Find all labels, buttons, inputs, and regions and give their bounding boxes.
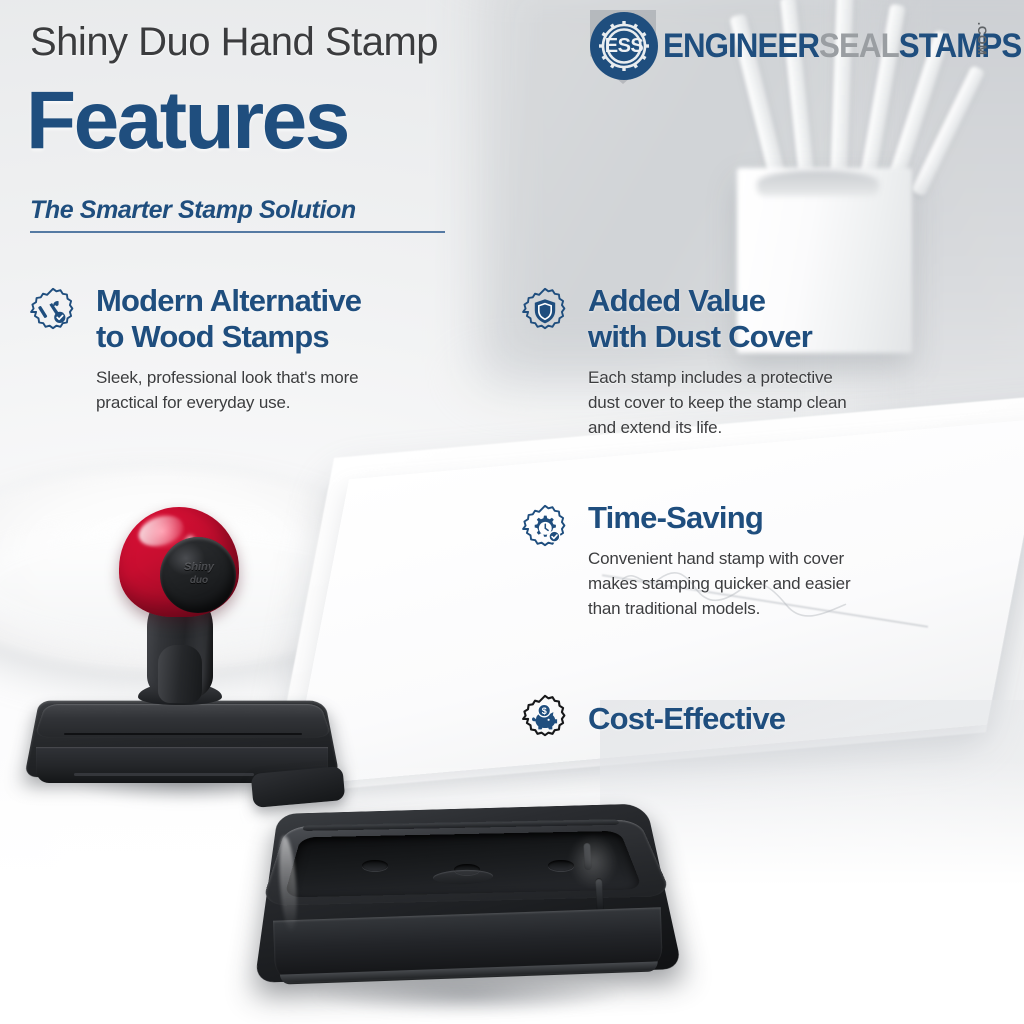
feature-desc-line3: than traditional models. xyxy=(588,596,990,621)
feature-desc-line2: practical for everyday use. xyxy=(96,390,498,415)
feature-description: Sleek, professional look that's more pra… xyxy=(96,365,498,415)
feature-title-line1: Cost-Effective xyxy=(588,701,785,736)
subtitle: The Smarter Stamp Solution xyxy=(30,195,450,225)
feature-cost-effective: $ Cost-Effective xyxy=(520,694,990,744)
tools-check-badge-icon xyxy=(28,287,78,337)
feature-added-value: Added Value with Dust Cover Each stamp i… xyxy=(520,283,990,440)
feature-title-line2: with Dust Cover xyxy=(588,319,990,355)
feature-body: Added Value with Dust Cover Each stamp i… xyxy=(588,283,990,440)
feature-title: Time-Saving xyxy=(588,500,990,536)
feature-description: Each stamp includes a protective dust co… xyxy=(588,365,990,440)
infographic-canvas: Shiny Duo Hand Stamp Features The Smarte… xyxy=(0,0,1024,1024)
feature-modern-alternative: Modern Alternative to Wood Stamps Sleek,… xyxy=(28,283,498,415)
feature-body: Time-Saving Convenient hand stamp with c… xyxy=(588,500,990,621)
feature-title: Modern Alternative to Wood Stamps xyxy=(96,283,498,355)
subtitle-underline xyxy=(30,231,445,233)
page-title: Features xyxy=(26,78,348,164)
logo-mark-text: ESS xyxy=(590,12,658,80)
brand-logo[interactable]: ESS ENGINEERSEALSTAMPS .COM xyxy=(585,8,1015,88)
feature-title: Added Value with Dust Cover xyxy=(588,283,990,355)
feature-title: Cost-Effective xyxy=(588,701,990,737)
feature-desc-line2: makes stamping quicker and easier xyxy=(588,571,990,596)
wordmark-seal: SEAL xyxy=(819,27,899,65)
feature-title-line1: Modern Alternative xyxy=(96,283,361,318)
feature-desc-line1: Each stamp includes a protective xyxy=(588,365,990,390)
hand-stamp-knob-emboss: Shiny duo xyxy=(176,557,222,591)
dust-cover-dimple-1 xyxy=(362,860,388,871)
feature-desc-line1: Sleek, professional look that's more xyxy=(96,365,498,390)
subtitle-block: The Smarter Stamp Solution xyxy=(30,195,450,233)
feature-body: Modern Alternative to Wood Stamps Sleek,… xyxy=(96,283,498,415)
knob-emboss-line2: duo xyxy=(190,574,208,587)
feature-desc-line1: Convenient hand stamp with cover xyxy=(588,546,990,571)
brand-wordmark: ENGINEERSEALSTAMPS xyxy=(663,26,1021,66)
feature-description: Convenient hand stamp with cover makes s… xyxy=(588,546,990,621)
product-name-kicker: Shiny Duo Hand Stamp xyxy=(30,18,438,66)
shield-badge-icon xyxy=(520,287,570,337)
feature-title-line1: Added Value xyxy=(588,283,765,318)
feature-title-line2: to Wood Stamps xyxy=(96,319,498,355)
gear-clock-check-badge-icon xyxy=(520,504,570,554)
feature-title-line1: Time-Saving xyxy=(588,500,763,535)
dust-cover-product-image xyxy=(258,782,678,1020)
feature-time-saving: Time-Saving Convenient hand stamp with c… xyxy=(520,500,990,621)
feature-desc-line2: dust cover to keep the stamp clean xyxy=(588,390,990,415)
hand-stamp-base-front-groove xyxy=(74,773,254,776)
feature-body: Cost-Effective xyxy=(588,701,990,737)
hand-stamp-base-seam xyxy=(64,733,302,735)
feature-desc-line3: and extend its life. xyxy=(588,415,990,440)
hand-stamp-product-image: Shiny duo xyxy=(30,495,340,815)
wordmark-tld: .COM xyxy=(975,22,989,55)
dust-cover-highlight-right xyxy=(558,822,628,900)
wordmark-stamps: STAMPS xyxy=(899,27,1022,65)
wordmark-engineer: ENGINEER xyxy=(663,27,819,65)
svg-text:$: $ xyxy=(542,706,547,716)
piggy-bank-badge-icon: $ xyxy=(520,694,570,744)
hand-stamp-handle-taper xyxy=(158,645,202,703)
knob-emboss-line1: Shiny xyxy=(184,561,214,574)
